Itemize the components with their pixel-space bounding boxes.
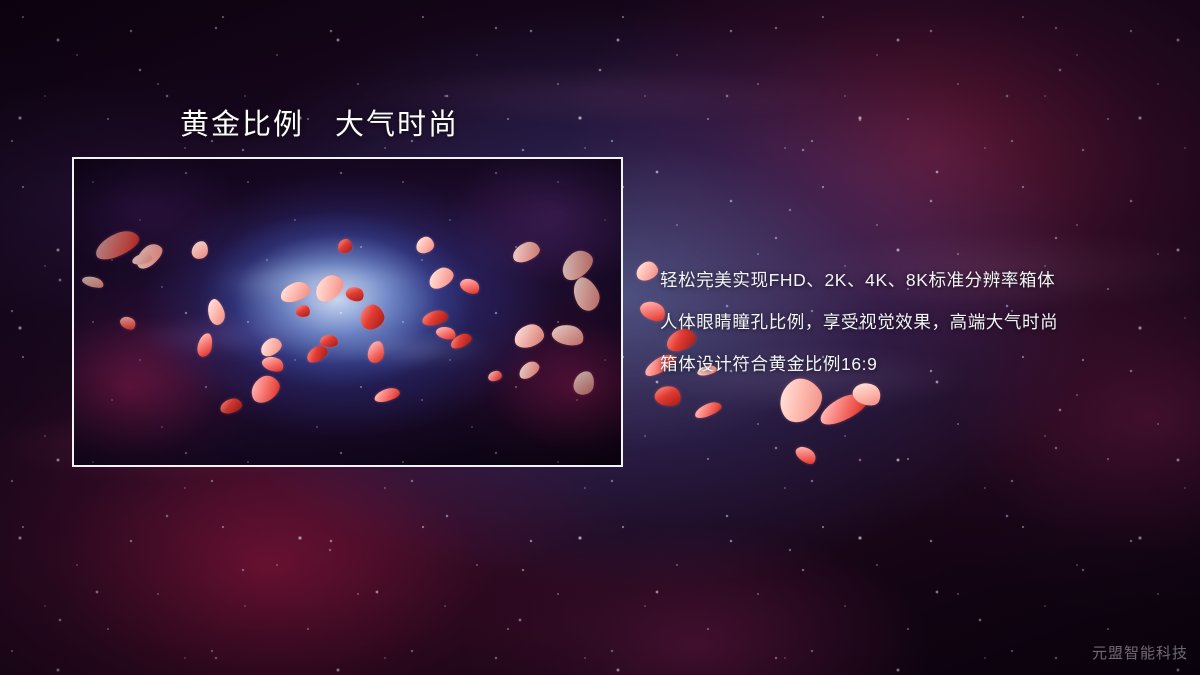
petal — [693, 400, 723, 421]
page-title: 黄金比例 大气时尚 — [180, 101, 459, 143]
petal — [653, 383, 683, 409]
body-line-3: 箱体设计符合黄金比例16:9 — [660, 343, 1180, 385]
body-line-1: 轻松完美实现FHD、2K、4K、8K标准分辨率箱体 — [660, 259, 1180, 301]
framed-photo — [72, 157, 623, 467]
body-text-block: 轻松完美实现FHD、2K、4K、8K标准分辨率箱体 人体眼睛瞳孔比例，享受视觉效… — [660, 259, 1180, 385]
presentation-slide: 黄金比例 大气时尚 轻松完美实现FHD、2K、4K、8K标准分辨率箱体 人体眼睛… — [0, 0, 1200, 675]
petal — [634, 259, 660, 282]
framed-photo-content — [74, 159, 621, 465]
petal — [816, 389, 871, 429]
body-line-2: 人体眼睛瞳孔比例，享受视觉效果，高端大气时尚 — [660, 301, 1180, 343]
photo-vignette — [74, 159, 621, 465]
petal — [793, 443, 819, 468]
watermark: 元盟智能科技 — [1092, 642, 1188, 663]
